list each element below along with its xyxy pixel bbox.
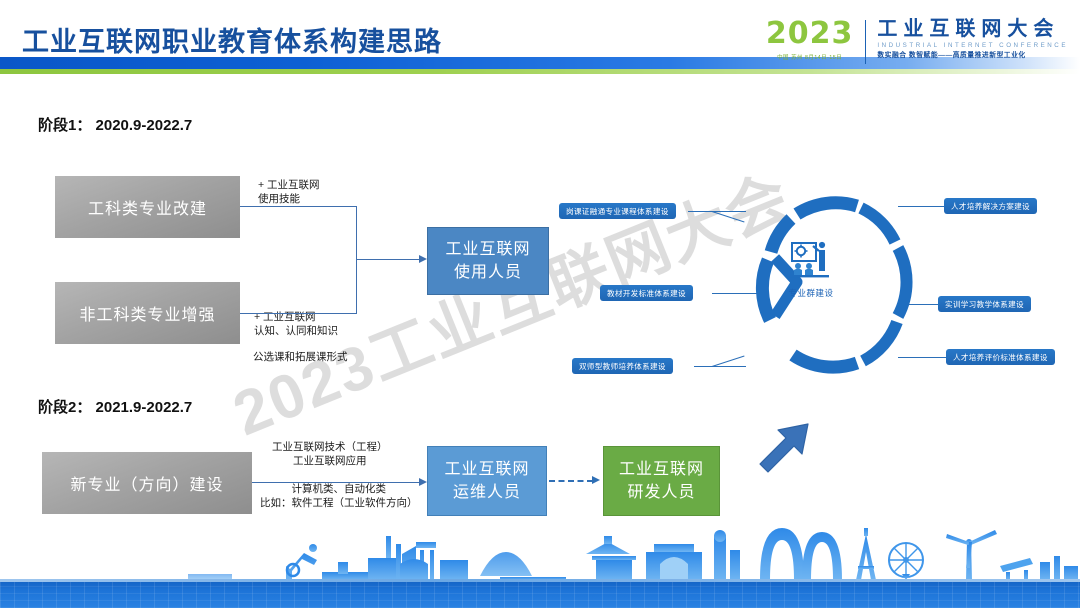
stage2-connector [252,482,420,483]
logo-name-block: 工业互联网大会 INDUSTRIAL INTERNET CONFERENCE 数… [866,18,1068,61]
circle-left-item-2[interactable]: 教材开发标准体系建设 [600,285,693,301]
stage1-connector-bottom [240,313,357,314]
stage1-source-box-2[interactable]: 非工科类专业增强 [55,282,240,344]
stage2-source-box[interactable]: 新专业（方向）建设 [42,452,252,514]
stage1-connector-top [240,206,357,207]
circle-center-label: 专业群建设 [788,287,833,299]
stage1-note-footer: 公选课和拓展课形式 [253,350,348,364]
circle-leader-l3 [694,366,746,367]
diagonal-arrow-icon [756,414,818,476]
logo-slogan: 数实融合 数智赋能——高质量推进新型工业化 [877,51,1068,61]
circle-right-item-3[interactable]: 人才培养评价标准体系建设 [946,349,1055,365]
logo-name-en: INDUSTRIAL INTERNET CONFERENCE [877,41,1068,51]
stage2-target1-line1: 工业互联网 [444,458,529,481]
logo-year-subtitle: 中国·苏州 8月14日-15日 [766,53,854,61]
stage2-note-bottom: 计算机类、自动化类 比如：软件工程（工业软件方向） [260,482,418,510]
circle-leader-l1b [712,211,745,222]
teaching-board-icon [790,240,832,280]
bottom-band-grid [0,582,1080,608]
stage2-target2-line1: 工业互联网 [619,458,704,481]
stage1-target-line2: 使用人员 [454,261,522,284]
city-skyline-icon [0,514,1080,584]
stage1-source-box-1[interactable]: 工科类专业改建 [55,176,240,238]
stage1-note-top: + 工业互联网 使用技能 [258,178,320,206]
logo-name-cn: 工业互联网大会 [877,18,1068,41]
stage2-label: 阶段2： 2021.9-2022.7 [38,396,192,417]
logo-year-block: 2023 中国·苏州 8月14日-15日 [766,18,866,61]
stage1-arrowhead-icon [419,255,427,263]
circle-center: 专业群建设 [770,240,852,326]
stage2-target1-line2: 运维人员 [453,481,521,504]
stage2-arrowhead-icon [419,478,427,486]
circle-left-item-3[interactable]: 双师型教师培养体系建设 [572,358,673,374]
stage1-label: 阶段1： 2020.9-2022.7 [38,114,192,135]
stage2-target2-line2: 研发人员 [627,481,695,504]
stage2-target-box-2[interactable]: 工业互联网 研发人员 [603,446,720,516]
stage1-target-line1: 工业互联网 [445,238,530,261]
stage1-target-box[interactable]: 工业互联网 使用人员 [427,227,549,295]
conference-logo: 2023 中国·苏州 8月14日-15日 工业互联网大会 INDUSTRIAL … [766,18,1068,70]
page-title: 工业互联网职业教育体系构建思路 [22,20,442,59]
stage2-dashed-connector [549,480,593,482]
circle-right-item-2[interactable]: 实训学习教学体系建设 [938,296,1031,312]
circle-right-item-1[interactable]: 人才培养解决方案建设 [944,198,1037,214]
circle-left-item-1[interactable]: 岗课证融通专业课程体系建设 [559,203,676,219]
stage2-dashed-arrowhead-icon [592,476,600,484]
logo-year: 2023 [766,18,854,50]
stage2-target-box-1[interactable]: 工业互联网 运维人员 [427,446,547,516]
stage1-connector-to-target [356,259,422,260]
stage2-note-top: 工业互联网技术（工程） 工业互联网应用 [272,440,388,468]
slide-canvas: 工业互联网职业教育体系构建思路 2023 中国·苏州 8月14日-15日 工业互… [0,0,1080,608]
